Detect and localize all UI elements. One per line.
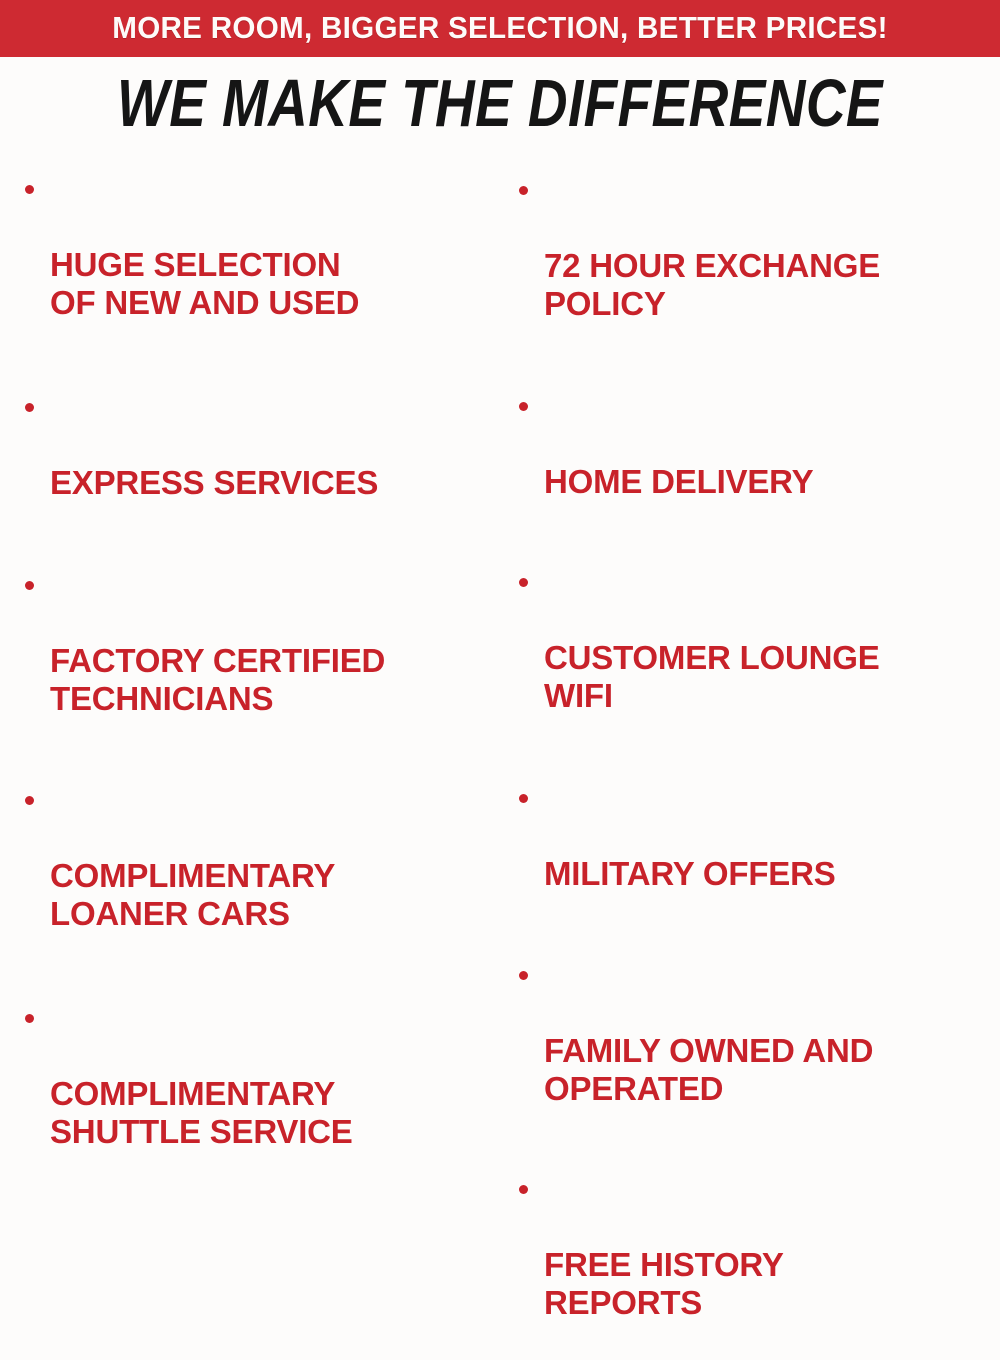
list-item: EXPRESS SERVICES bbox=[18, 388, 498, 540]
bullet-dot-icon bbox=[519, 794, 528, 803]
promotional-poster: MORE ROOM, BIGGER SELECTION, BETTER PRIC… bbox=[0, 0, 1000, 694]
list-item-label: FAMILY OWNED AND OPERATED bbox=[544, 1032, 994, 1108]
list-item-label: CUSTOMER LOUNGE WIFI bbox=[544, 639, 994, 715]
list-item: 72 HOUR EXCHANGE POLICY bbox=[512, 171, 994, 361]
list-item-label: HUGE SELECTION OF NEW AND USED bbox=[50, 246, 498, 322]
list-item: MILITARY OFFERS bbox=[512, 779, 994, 931]
bullet-dot-icon bbox=[519, 186, 528, 195]
list-item-label: EXPRESS SERVICES bbox=[50, 464, 498, 502]
banner-headline-text: MORE ROOM, BIGGER SELECTION, BETTER PRIC… bbox=[23, 0, 978, 57]
list-item: COMPLIMENTARY LOANER CARS bbox=[18, 781, 498, 971]
bullet-dot-icon bbox=[25, 1014, 34, 1023]
list-item: HOME DELIVERY bbox=[512, 387, 994, 539]
page-title: WE MAKE THE DIFFERENCE bbox=[90, 69, 910, 141]
list-item: COMPLIMENTARY SHUTTLE SERVICE bbox=[18, 999, 498, 1189]
bullet-dot-icon bbox=[25, 796, 34, 805]
list-item-label: COMPLIMENTARY SHUTTLE SERVICE bbox=[50, 1075, 498, 1151]
bullet-dot-icon bbox=[25, 403, 34, 412]
list-item: FREE HISTORY REPORTS bbox=[512, 1170, 994, 1360]
list-item-label: HOME DELIVERY bbox=[544, 463, 994, 501]
top-banner: MORE ROOM, BIGGER SELECTION, BETTER PRIC… bbox=[0, 0, 1000, 57]
bullet-dot-icon bbox=[519, 1185, 528, 1194]
benefits-column-right: 72 HOUR EXCHANGE POLICY HOME DELIVERY CU… bbox=[512, 158, 994, 1360]
list-item-label: FACTORY CERTIFIED TECHNICIANS bbox=[50, 642, 498, 718]
list-item-label: FREE HISTORY REPORTS bbox=[544, 1246, 994, 1322]
list-item: FAMILY OWNED AND OPERATED bbox=[512, 956, 994, 1146]
list-item: CUSTOMER LOUNGE WIFI bbox=[512, 563, 994, 753]
bullet-dot-icon bbox=[519, 971, 528, 980]
benefits-columns: HUGE SELECTION OF NEW AND USED EXPRESS S… bbox=[0, 158, 1000, 694]
bullet-dot-icon bbox=[519, 402, 528, 411]
list-item-label: MILITARY OFFERS bbox=[544, 855, 994, 893]
bullet-dot-icon bbox=[519, 578, 528, 587]
list-item-label: COMPLIMENTARY LOANER CARS bbox=[50, 857, 498, 933]
bullet-dot-icon bbox=[25, 581, 34, 590]
benefits-column-left: HUGE SELECTION OF NEW AND USED EXPRESS S… bbox=[18, 158, 498, 1189]
list-item: FACTORY CERTIFIED TECHNICIANS bbox=[18, 566, 498, 756]
list-item: HUGE SELECTION OF NEW AND USED bbox=[18, 170, 498, 360]
bullet-dot-icon bbox=[25, 185, 34, 194]
list-item-label: 72 HOUR EXCHANGE POLICY bbox=[544, 247, 994, 323]
